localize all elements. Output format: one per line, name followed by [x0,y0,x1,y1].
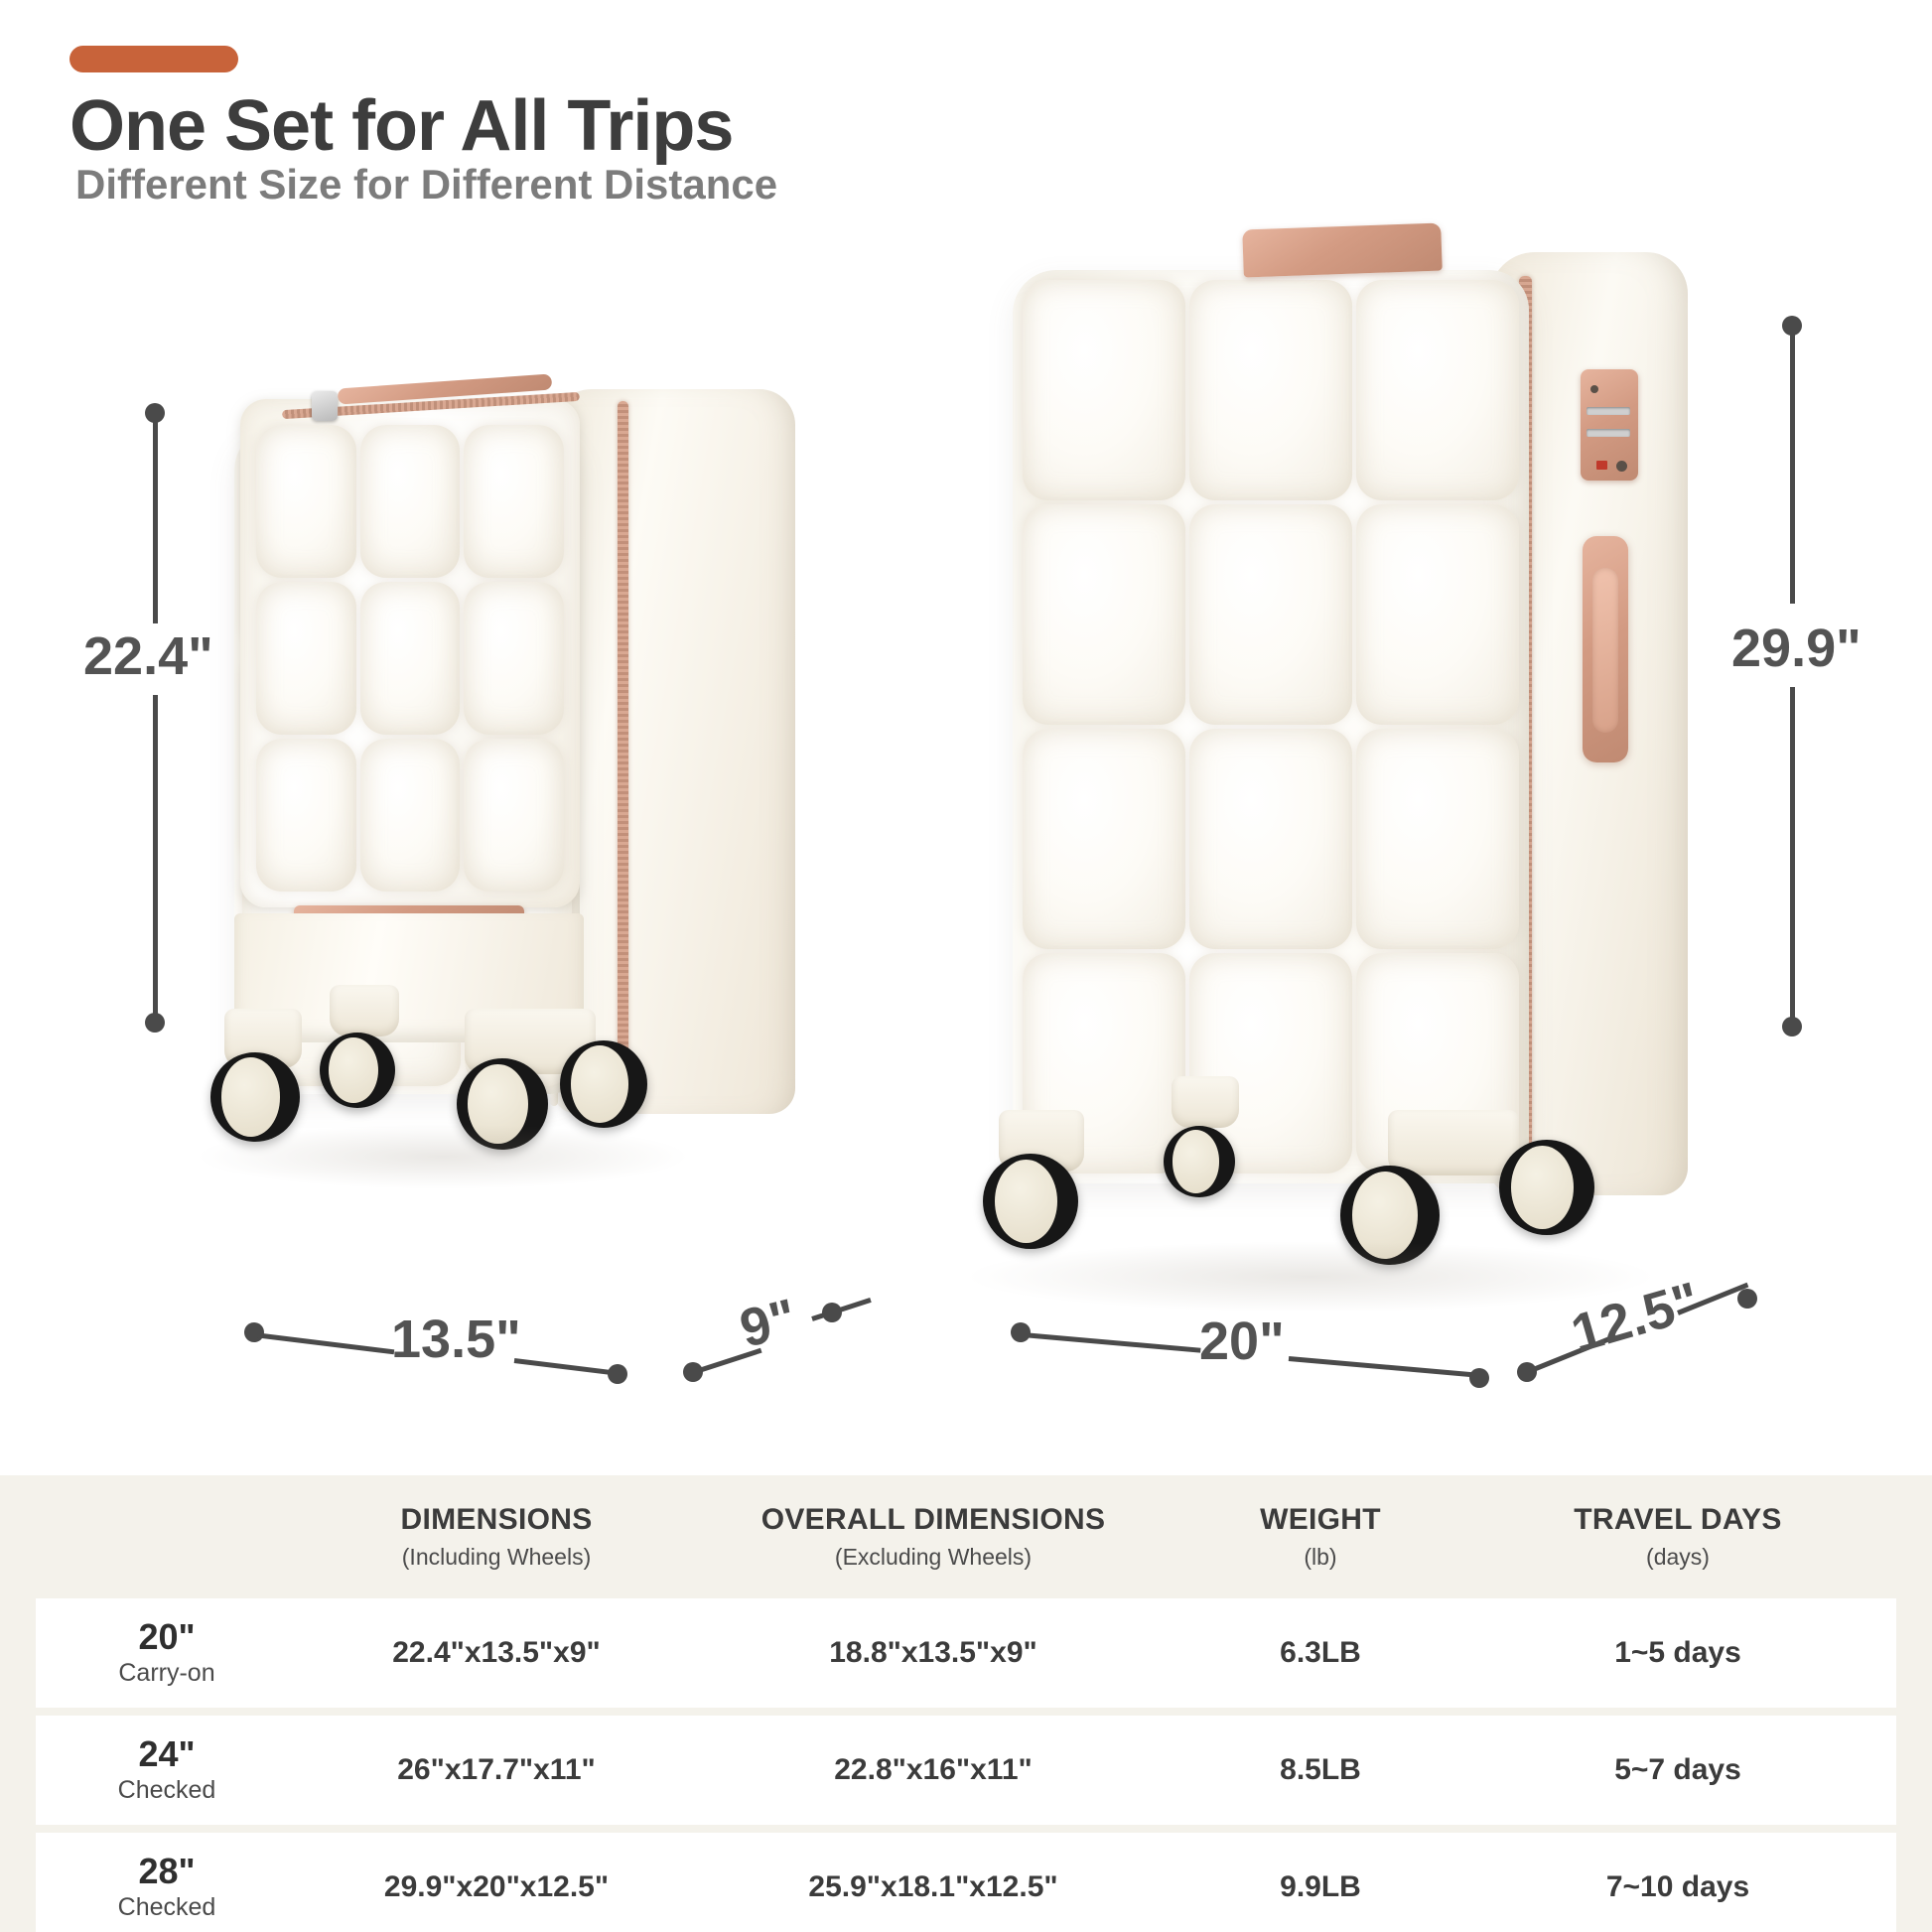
spec-table: DIMENSIONS (Including Wheels) OVERALL DI… [0,1475,1932,1932]
quilt-cell [1356,280,1519,500]
quilt-cell [256,425,356,578]
row-size-cell: 28" Checked [36,1853,298,1923]
row-overall-dimensions-cell: 25.9"x18.1"x12.5" [695,1870,1172,1904]
suitcase-small-zipper [618,401,628,1102]
suitcase-large-wheel-back-right [1499,1140,1594,1235]
infographic-canvas: One Set for All Trips Different Size for… [0,0,1932,1932]
row-size-cell: 24" Checked [36,1735,298,1806]
quilt-cell [1189,729,1352,949]
quilt-cell [360,739,461,892]
tsa-lock-indicator [1596,461,1607,470]
quilt-cell [464,425,564,578]
dim-line-large-width-left [1023,1332,1201,1353]
quilt-cell [1189,504,1352,725]
dim-label-small-width: 13.5" [391,1309,521,1370]
table-row: 24" Checked 26"x17.7"x11" 22.8"x16"x11" … [36,1716,1896,1825]
suitcase-large-side-handle-grip [1592,568,1618,733]
spec-header-cell-dimensions: DIMENSIONS (Including Wheels) [298,1503,695,1571]
suitcase-large-tsa-lock [1581,369,1638,481]
suitcase-small-zipper-pull [312,391,338,421]
suitcase-small-wheel-mount-bl [330,985,399,1036]
suitcase-large-ground-shadow [963,1241,1658,1312]
tsa-lock-slot-bottom [1587,429,1630,437]
quilt-cell [1023,504,1185,725]
dim-line-large-width-right [1289,1356,1479,1378]
quilt-cell [1023,729,1185,949]
row-travel-days-cell: 7~10 days [1469,1870,1886,1904]
row-overall-dimensions-cell: 18.8"x13.5"x9" [695,1636,1172,1670]
dim-dot-small-depth-right [822,1303,842,1322]
suitcase-small-wheel-front-left [210,1052,300,1142]
row-size-cell: 20" Carry-on [36,1618,298,1689]
page-title: One Set for All Trips [69,85,733,167]
suitcase-large-quilt-grid [1013,270,1529,1183]
suitcase-large-front-shell [1013,270,1529,1183]
quilt-cell [256,739,356,892]
suitcase-small-back-shell [552,389,795,1114]
dim-label-large-width: 20" [1199,1311,1285,1372]
dim-dot-large-width-right [1469,1368,1489,1388]
suitcase-large-telescopic-handle [1242,223,1443,278]
quilt-cell [1356,504,1519,725]
row-dimensions-cell: 26"x17.7"x11" [298,1753,695,1787]
suitcase-large-wheel-mount-bl [1172,1076,1239,1128]
quilt-cell [360,425,461,578]
pocket-quilt-grid [246,415,574,901]
spec-table-header-row: DIMENSIONS (Including Wheels) OVERALL DI… [0,1475,1932,1598]
dim-dot-large-depth-right [1737,1289,1757,1309]
quilt-cell [464,582,564,735]
dim-dot-small-height-top [145,403,165,423]
suitcase-large [1013,270,1747,1183]
suitcase-small-front-pocket [240,399,580,907]
row-weight-cell: 8.5LB [1172,1753,1469,1787]
page-subtitle: Different Size for Different Distance [75,161,777,208]
row-weight-cell: 9.9LB [1172,1870,1469,1904]
dim-dot-small-width-right [608,1364,627,1384]
dim-line-small-height-lower [153,695,158,1019]
suitcase-small-wheel-back-right [560,1040,647,1128]
table-row: 28" Checked 29.9"x20"x12.5" 25.9"x18.1"x… [36,1833,1896,1932]
suitcase-large-wheel-mount-fr [1388,1110,1519,1175]
dim-line-small-width-left [254,1332,395,1354]
spec-header-cell-size [0,1534,298,1540]
dim-label-small-depth: 9" [734,1287,802,1360]
dim-label-small-height: 22.4" [83,625,213,687]
quilt-cell [1356,729,1519,949]
tsa-lock-screw-top [1590,385,1598,393]
dim-line-small-width-right [514,1358,616,1375]
suitcase-small-ground-shadow [195,1124,691,1189]
dim-dot-large-height-bottom [1782,1017,1802,1036]
row-dimensions-cell: 29.9"x20"x12.5" [298,1870,695,1904]
suitcase-small-wheel-back-left [320,1033,395,1108]
table-row: 20" Carry-on 22.4"x13.5"x9" 18.8"x13.5"x… [36,1598,1896,1708]
dim-line-small-height-upper [153,421,158,623]
dim-line-large-height-lower [1790,687,1795,1025]
tsa-lock-slot-top [1587,407,1630,415]
row-weight-cell: 6.3LB [1172,1636,1469,1670]
quilt-cell [256,582,356,735]
quilt-cell [360,582,461,735]
suitcase-large-wheel-back-left [1164,1126,1235,1197]
dim-dot-large-depth-left [1517,1362,1537,1382]
row-overall-dimensions-cell: 22.8"x16"x11" [695,1753,1172,1787]
suitcase-small [234,417,790,1112]
row-travel-days-cell: 1~5 days [1469,1636,1886,1670]
dim-label-large-height: 29.9" [1731,618,1862,679]
row-travel-days-cell: 5~7 days [1469,1753,1886,1787]
dim-dot-small-height-bottom [145,1013,165,1033]
spec-header-cell-overall-dimensions: OVERALL DIMENSIONS (Excluding Wheels) [695,1503,1172,1571]
row-dimensions-cell: 22.4"x13.5"x9" [298,1636,695,1670]
quilt-cell [464,739,564,892]
quilt-cell [1189,280,1352,500]
dim-line-large-height-upper [1790,334,1795,604]
spec-header-cell-travel-days: TRAVEL DAYS (days) [1469,1503,1886,1571]
tsa-lock-keyhole [1616,461,1627,472]
accent-bar [69,46,238,72]
suitcase-large-wheel-front-left [983,1154,1078,1249]
dim-dot-large-height-top [1782,316,1802,336]
spec-header-cell-weight: WEIGHT (lb) [1172,1503,1469,1571]
quilt-cell [1023,280,1185,500]
